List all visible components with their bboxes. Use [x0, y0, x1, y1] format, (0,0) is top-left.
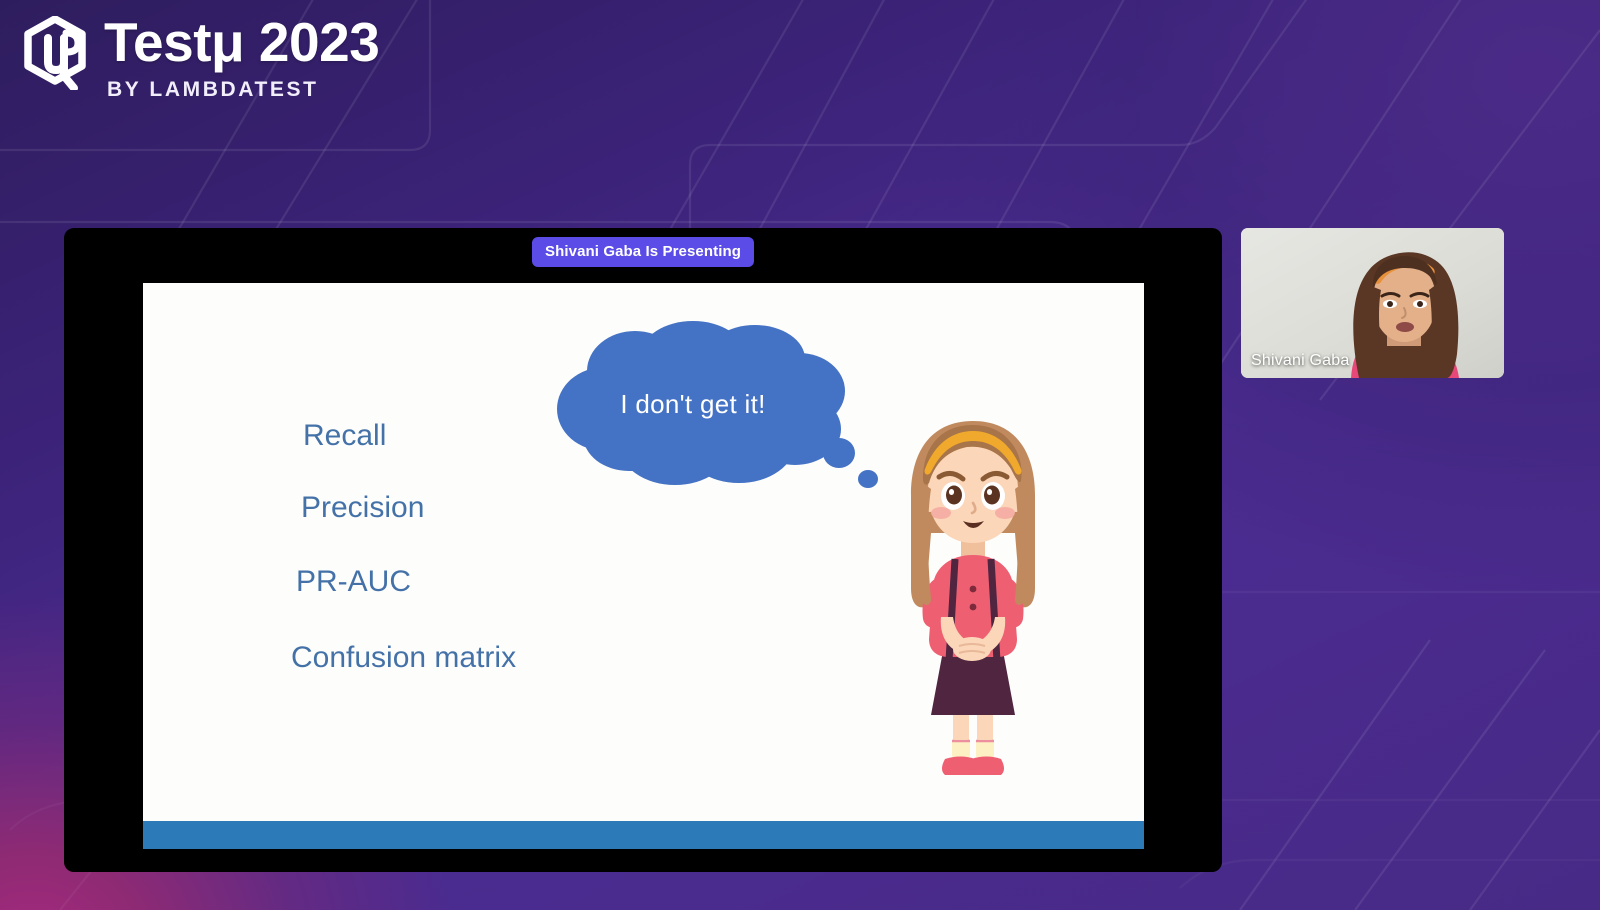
presentation-slide: Recall Precision PR-AUC Confusion matrix: [143, 283, 1144, 849]
slide-list-item: Confusion matrix: [291, 643, 621, 673]
participant-video-tile[interactable]: Shivani Gaba: [1241, 228, 1504, 378]
participant-name-label: Shivani Gaba: [1251, 352, 1349, 370]
thought-bubble-cloud-icon: I don't get it!: [543, 321, 888, 496]
slide-list-item: Precision: [301, 493, 621, 523]
conference-stage: Testμ 2023 BY LAMBDATEST Shivani Gaba Is…: [0, 0, 1600, 910]
testmu-hexagon-mu-logo-icon: [22, 16, 88, 90]
brand-lockup: Testμ 2023 BY LAMBDATEST: [22, 14, 379, 102]
brand-subtitle: BY LAMBDATEST: [107, 78, 379, 102]
slide-footer-bar: [143, 821, 1144, 849]
brand-title: Testμ 2023: [104, 14, 379, 72]
screen-share-frame: Shivani Gaba Is Presenting Recall Precis…: [64, 228, 1222, 872]
presenter-badge: Shivani Gaba Is Presenting: [532, 237, 754, 267]
confused-girl-illustration-icon: [873, 403, 1073, 798]
slide-list-item: PR-AUC: [296, 567, 621, 597]
